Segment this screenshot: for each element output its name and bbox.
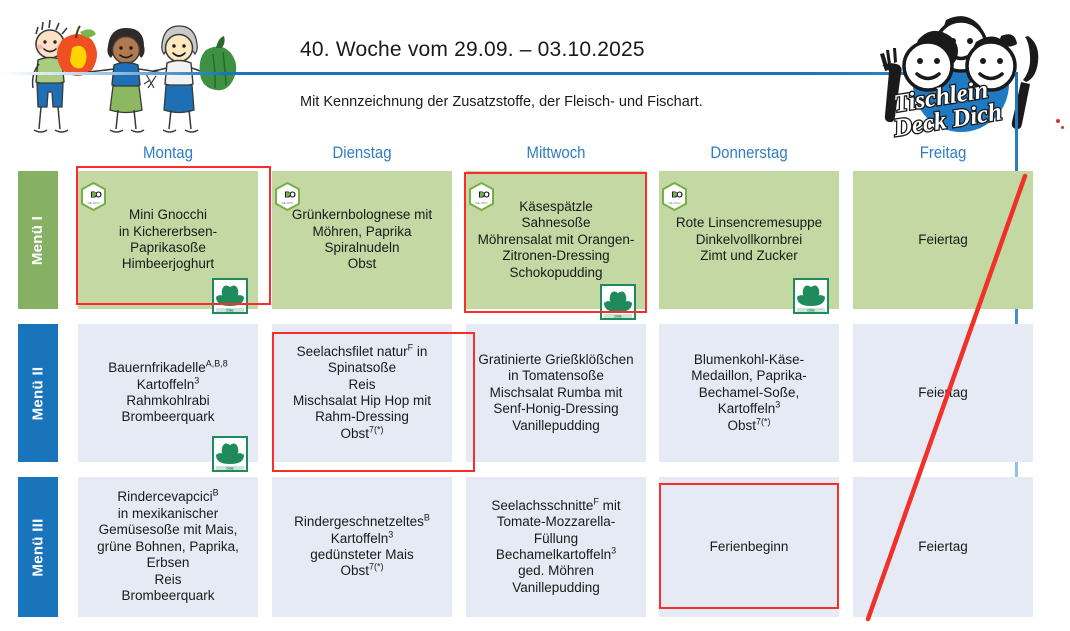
menu-line: Paprikasoße	[86, 240, 250, 256]
svg-text:DE-ÖKO: DE-ÖKO	[476, 201, 489, 205]
svg-text:DGE: DGE	[807, 308, 815, 312]
menu-line: RindercevapciciB	[86, 489, 250, 505]
menu-line: RindergeschnetzeltesB	[280, 514, 444, 530]
menu-line: Feiertag	[861, 385, 1025, 401]
menu-line: Kartoffeln3	[86, 377, 250, 393]
header-subtitle: Mit Kennzeichnung der Zusatzstoffe, der …	[300, 94, 860, 110]
bio-badge-icon: B O DE-ÖKO	[80, 182, 107, 211]
menu-line: in mexikanischer	[86, 506, 250, 522]
menu-line: Gratinierte Grießklößchen	[474, 352, 638, 368]
menu-cell-menu1-freitag[interactable]: Feiertag	[853, 171, 1033, 309]
menu-line: Schokopudding	[474, 265, 638, 281]
menu-line: Obst7(*)	[280, 563, 444, 579]
menu-cell-menu3-dienstag[interactable]: RindergeschnetzeltesBKartoffeln3gedünste…	[272, 477, 452, 617]
svg-text:DE-ÖKO: DE-ÖKO	[669, 201, 682, 205]
menu-line: grüne Bohnen, Paprika,	[86, 539, 250, 555]
menu-grid: Menü I Menü II Menü III Mini Gnocchiin K…	[0, 171, 1018, 631]
menu-line: Spinatsoße	[280, 360, 444, 376]
menu-line: SeelachsschnitteF mit	[474, 498, 638, 514]
page-header: 40. Woche vom 29.09. – 03.10.2025 Mit Ke…	[0, 0, 1070, 140]
menu-line: Obst7(*)	[667, 418, 831, 434]
menu-cell-menu3-montag[interactable]: RindercevapciciBin mexikanischerGemüseso…	[78, 477, 258, 617]
menu-line: Brombeerquark	[86, 409, 250, 425]
day-header-donnerstag: Donnerstag	[670, 143, 828, 163]
menu-line: Gemüsesoße mit Mais,	[86, 522, 250, 538]
day-header-row: Montag Dienstag Mittwoch Donnerstag Frei…	[0, 143, 1018, 171]
menu-line: Mini Gnocchi	[86, 207, 250, 223]
bio-badge-icon: B O DE-ÖKO	[274, 182, 301, 211]
menu-line: Vanillepudding	[474, 418, 638, 434]
menu-line: Reis	[86, 572, 250, 588]
svg-text:DE-ÖKO: DE-ÖKO	[88, 201, 101, 205]
decorative-dot-icon	[1056, 119, 1060, 123]
menu-line: ged. Möhren	[474, 563, 638, 579]
svg-text:O: O	[95, 190, 102, 200]
menu-line: Ferienbeginn	[667, 539, 831, 555]
menu-line: Vanillepudding	[474, 580, 638, 596]
menu-line: Brombeerquark	[86, 588, 250, 604]
row-label-menu-1: Menü I	[18, 171, 58, 309]
row-label-menu-3-text: Menü III	[30, 518, 47, 576]
menu-line: Erbsen	[86, 555, 250, 571]
dge-leaf-badge-icon: DGE	[212, 278, 248, 314]
menu-line: Blumenkohl-Käse-	[667, 352, 831, 368]
menu-line: Mischsalat Rumba mit	[474, 385, 638, 401]
menu-line: Tomate-Mozzarella-	[474, 514, 638, 530]
menu-line: gedünsteter Mais	[280, 547, 444, 563]
menu-line: BauernfrikadelleA,B,8	[86, 360, 250, 376]
svg-text:DE-ÖKO: DE-ÖKO	[282, 201, 295, 205]
menu-line: Medaillon, Paprika-	[667, 368, 831, 384]
menu-line: Sahnesoße	[474, 215, 638, 231]
menu-line: Mischsalat Hip Hop mit	[280, 393, 444, 409]
menu-line: Rahmkohlrabi	[86, 393, 250, 409]
bio-badge-icon: B O DE-ÖKO	[468, 182, 495, 211]
menu-line: Rahm-Dressing	[280, 409, 444, 425]
menu-line: Bechamelkartoffeln3	[474, 547, 638, 563]
svg-text:DGE: DGE	[226, 466, 234, 470]
week-title-block: 40. Woche vom 29.09. – 03.10.2025	[300, 38, 840, 62]
menu-line: Senf-Honig-Dressing	[474, 401, 638, 417]
menu-line: Bechamel-Soße,	[667, 385, 831, 401]
svg-text:O: O	[289, 190, 296, 200]
row-label-menu-1-text: Menü I	[30, 215, 47, 264]
day-header-mittwoch: Mittwoch	[477, 143, 635, 163]
menu-line: Reis	[280, 377, 444, 393]
dge-leaf-badge-icon: DGE	[212, 436, 248, 472]
svg-text:O: O	[676, 190, 683, 200]
menu-line: Obst7(*)	[280, 426, 444, 442]
menu-line: Grünkernbolognese mit	[280, 207, 444, 223]
menu-cell-menu2-donnerstag[interactable]: Blumenkohl-Käse-Medaillon, Paprika-Becha…	[659, 324, 839, 462]
menu-line: in Kichererbsen-	[86, 224, 250, 240]
menu-line: Zitronen-Dressing	[474, 248, 638, 264]
row-label-menu-3: Menü III	[18, 477, 58, 617]
menu-line: Zimt und Zucker	[667, 248, 831, 264]
menu-line: Rote Linsencremesuppe	[667, 215, 831, 231]
day-header-montag: Montag	[89, 143, 247, 163]
menu-line: Möhrensalat mit Orangen-	[474, 232, 638, 248]
three-children-with-vegetables-illustration	[10, 12, 240, 140]
row-label-menu-2-text: Menü II	[30, 366, 47, 420]
menu-cell-menu2-freitag[interactable]: Feiertag	[853, 324, 1033, 462]
menu-line: Feiertag	[861, 232, 1025, 248]
svg-text:O: O	[483, 190, 490, 200]
menu-line: Käsespätzle	[474, 199, 638, 215]
row-label-menu-2: Menü II	[18, 324, 58, 462]
menu-line: Kartoffeln3	[280, 531, 444, 547]
week-title: 40. Woche vom 29.09. – 03.10.2025	[300, 38, 840, 62]
dge-leaf-badge-icon: DGE	[793, 278, 829, 314]
menu-line: Dinkelvollkornbrei	[667, 232, 831, 248]
menu-line: Obst	[280, 256, 444, 272]
menu-line: Spiralnudeln	[280, 240, 444, 256]
decorative-dot-icon	[1061, 126, 1064, 129]
menu-line: Seelachsfilet naturF in	[280, 344, 444, 360]
bio-badge-icon: B O DE-ÖKO	[661, 182, 688, 211]
day-header-dienstag: Dienstag	[283, 143, 441, 163]
menu-cell-menu3-freitag[interactable]: Feiertag	[853, 477, 1033, 617]
menu-cell-menu3-donnerstag[interactable]: Ferienbeginn	[659, 477, 839, 617]
menu-line: Möhren, Paprika	[280, 224, 444, 240]
day-header-freitag: Freitag	[864, 143, 1022, 163]
menu-cell-menu2-dienstag[interactable]: Seelachsfilet naturF inSpinatsoßeReisMis…	[272, 324, 452, 462]
menu-line: Feiertag	[861, 539, 1025, 555]
menu-cell-menu3-mittwoch[interactable]: SeelachsschnitteF mitTomate-Mozzarella-F…	[466, 477, 646, 617]
menu-line: in Tomatensoße	[474, 368, 638, 384]
menu-cell-menu2-mittwoch[interactable]: Gratinierte Grießklößchenin TomatensoßeM…	[466, 324, 646, 462]
svg-text:DGE: DGE	[226, 308, 234, 312]
dge-leaf-badge-icon: DGE	[600, 284, 636, 320]
menu-line: Kartoffeln3	[667, 401, 831, 417]
svg-text:DGE: DGE	[614, 314, 622, 318]
tischlein-deck-dich-logo: Tischlein Deck Dich	[858, 6, 1063, 138]
menu-line: Himbeerjoghurt	[86, 256, 250, 272]
